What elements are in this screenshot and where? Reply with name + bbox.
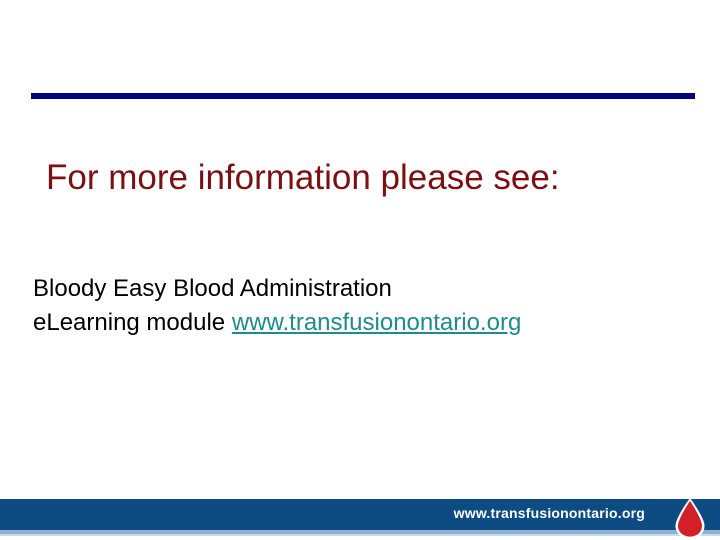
body-line-2: eLearning module www.transfusionontario.… bbox=[33, 306, 683, 340]
title-divider-rule bbox=[31, 93, 695, 99]
footer-url-label: www.transfusionontario.org bbox=[454, 505, 645, 521]
slide-canvas: For more information please see: Bloody … bbox=[0, 0, 720, 540]
page-heading: For more information please see: bbox=[46, 157, 686, 199]
body-content: Bloody Easy Blood Administration eLearni… bbox=[33, 272, 683, 340]
body-line-1: Bloody Easy Blood Administration bbox=[33, 272, 683, 306]
blood-drop-icon bbox=[672, 497, 708, 540]
body-line-2-prefix: eLearning module bbox=[33, 309, 232, 336]
transfusion-ontario-link[interactable]: www.transfusionontario.org bbox=[232, 309, 521, 336]
footer-accent-line-light bbox=[0, 534, 720, 536]
slide-title bbox=[31, 40, 695, 90]
body-line-1-text: Bloody Easy Blood Administration bbox=[33, 275, 392, 302]
